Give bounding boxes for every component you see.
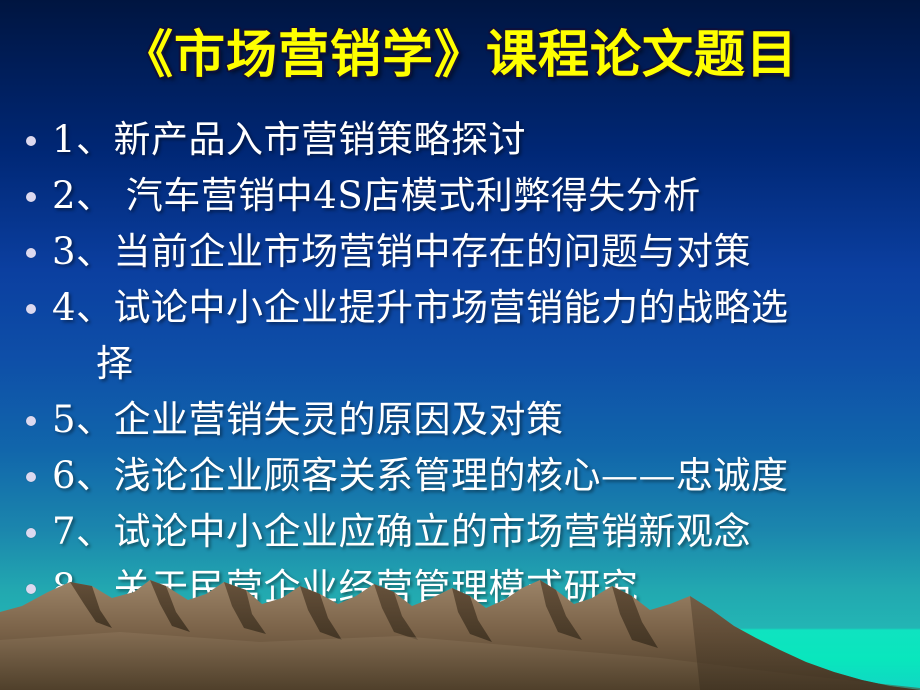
- list-item-label: 6、浅论企业顾客关系管理的核心——忠诚度: [52, 448, 906, 504]
- list-item-label: 8、关于民营企业经营管理模式研究: [52, 560, 906, 616]
- list-item[interactable]: 8、关于民营企业经营管理模式研究: [26, 560, 906, 616]
- page-title: 《市场营销学》课程论文题目: [0, 24, 920, 86]
- list-item-label: 5、企业营销失灵的原因及对策: [52, 392, 906, 448]
- bullet-icon: [26, 248, 36, 258]
- list-item[interactable]: 2、 汽车营销中4S店模式利弊得失分析: [26, 168, 906, 224]
- bullet-icon: [26, 584, 36, 594]
- presentation-slide: 《市场营销学》课程论文题目 1、新产品入市营销策略探讨 2、 汽车营销中4S店模…: [0, 0, 920, 690]
- list-item-wrap-line: 择: [26, 336, 906, 392]
- list-item-label: 2、 汽车营销中4S店模式利弊得失分析: [52, 168, 906, 224]
- bullet-icon: [26, 528, 36, 538]
- bullet-icon: [26, 192, 36, 202]
- topic-list: 1、新产品入市营销策略探讨 2、 汽车营销中4S店模式利弊得失分析 3、当前企业…: [26, 112, 906, 616]
- bullet-icon: [26, 136, 36, 146]
- list-item[interactable]: 1、新产品入市营销策略探讨: [26, 112, 906, 168]
- list-item-label: 3、当前企业市场营销中存在的问题与对策: [52, 224, 906, 280]
- list-item-label: 7、试论中小企业应确立的市场营销新观念: [52, 504, 906, 560]
- list-item-label: 4、试论中小企业提升市场营销能力的战略选: [52, 280, 906, 336]
- list-item[interactable]: 6、浅论企业顾客关系管理的核心——忠诚度: [26, 448, 906, 504]
- bullet-icon: [26, 472, 36, 482]
- list-item[interactable]: 3、当前企业市场营销中存在的问题与对策: [26, 224, 906, 280]
- bullet-icon: [26, 416, 36, 426]
- bullet-icon: [26, 304, 36, 314]
- list-item[interactable]: 5、企业营销失灵的原因及对策: [26, 392, 906, 448]
- list-item[interactable]: 7、试论中小企业应确立的市场营销新观念: [26, 504, 906, 560]
- list-item-label: 1、新产品入市营销策略探讨: [52, 112, 906, 168]
- list-item-wrap-label: 择: [52, 336, 906, 392]
- list-item[interactable]: 4、试论中小企业提升市场营销能力的战略选: [26, 280, 906, 336]
